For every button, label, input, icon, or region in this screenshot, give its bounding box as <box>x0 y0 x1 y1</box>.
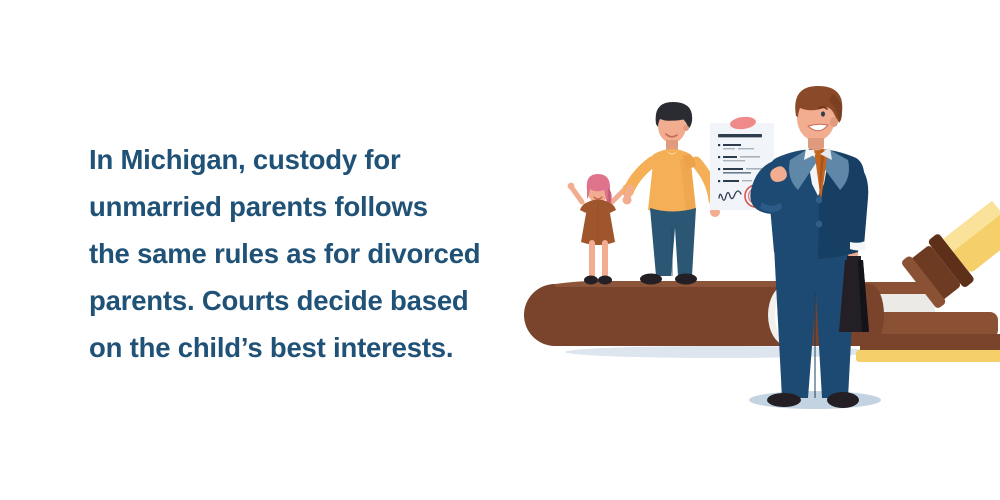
parent-right-shoe <box>675 274 697 285</box>
parent-jeans <box>650 208 696 276</box>
child-right-leg <box>602 240 608 278</box>
page-root: In Michigan, custody for unmarried paren… <box>0 0 1000 500</box>
child-right-shoe <box>598 276 612 285</box>
lawyer-right-shoe <box>827 392 859 408</box>
family-custody-lawyer-illustration <box>520 30 1000 450</box>
child-left-shoe <box>584 276 598 285</box>
jacket-button-1 <box>816 197 823 204</box>
quote-line-2: unmarried parents follows <box>89 183 504 230</box>
quote-text-block: In Michigan, custody for unmarried paren… <box>89 136 504 371</box>
parent-figure <box>623 102 721 285</box>
quote-line-3: the same rules as for divorced <box>89 230 504 277</box>
child-left-leg <box>589 240 595 278</box>
quote-line-4: parents. Courts decide based <box>89 277 504 324</box>
child-left-arm <box>572 188 582 202</box>
lawyer-left-shoe <box>767 393 801 407</box>
quote-line-1: In Michigan, custody for <box>89 136 504 183</box>
parent-left-shoe <box>640 274 662 285</box>
child-figure <box>568 174 630 285</box>
quote-line-5: on the child’s best interests. <box>89 324 504 371</box>
document-title-bar <box>718 134 762 137</box>
jacket-button-2 <box>816 221 823 228</box>
child-right-arm <box>612 190 624 202</box>
